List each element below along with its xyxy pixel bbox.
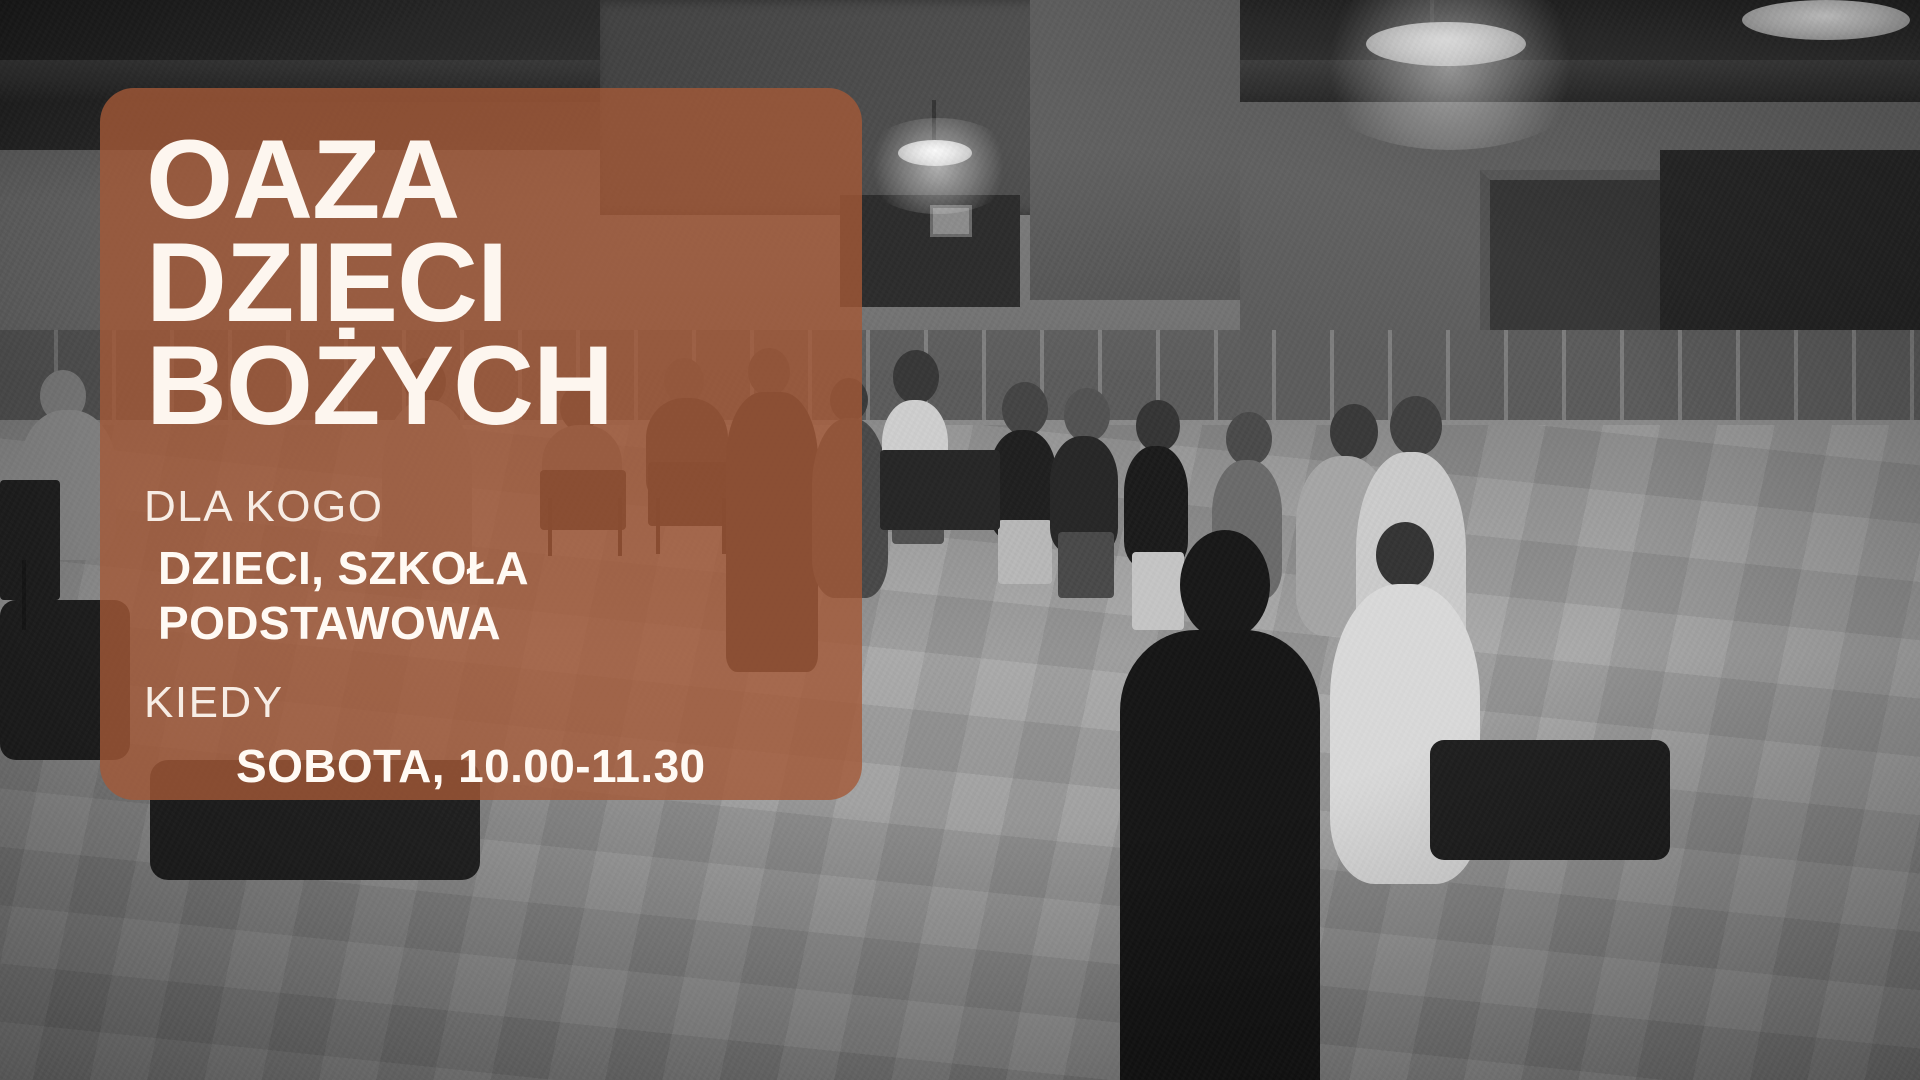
info-card: OAZA DZIECI BOŻYCH DLA KOGO DZIECI, SZKO… [100,88,862,800]
poster-canvas: OAZA DZIECI BOŻYCH DLA KOGO DZIECI, SZKO… [0,0,1920,1080]
page-title: OAZA DZIECI BOŻYCH [146,128,822,437]
field-audience-value: DZIECI, SZKOŁA PODSTAWOWA [144,541,822,651]
field-schedule-value: SOBOTA, 10.00-11.30 [144,739,822,794]
field-audience-label: DLA KOGO [144,481,822,533]
field-schedule: KIEDY SOBOTA, 10.00-11.30 [144,677,822,794]
details-list: DLA KOGO DZIECI, SZKOŁA PODSTAWOWA KIEDY… [144,481,822,800]
field-schedule-label: KIEDY [144,677,822,729]
field-audience: DLA KOGO DZIECI, SZKOŁA PODSTAWOWA [144,481,822,651]
